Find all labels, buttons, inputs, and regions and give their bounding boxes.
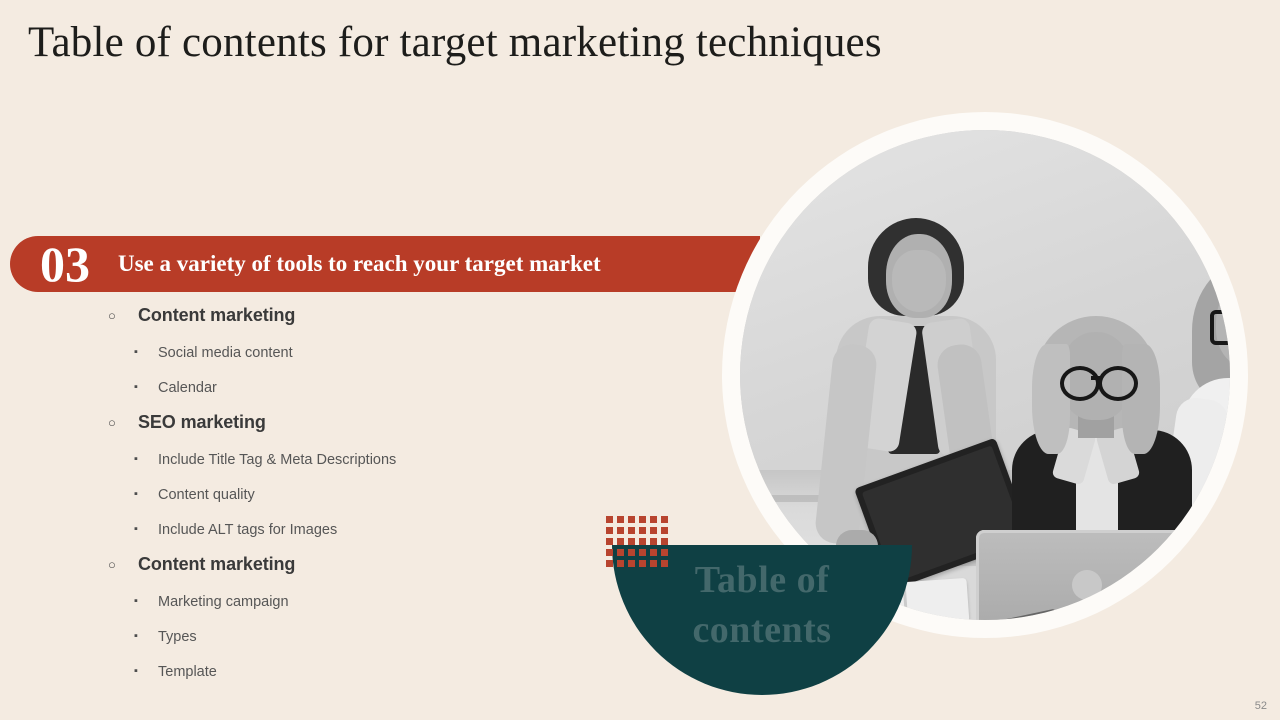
list-item-sub[interactable]: ▪ Include Title Tag & Meta Descriptions: [108, 444, 628, 475]
dot: [606, 560, 613, 567]
toc-badge-label: Table of contents: [612, 555, 912, 655]
square-filled-bullet-icon: ▪: [134, 382, 158, 393]
photo-laptop-logo: [1072, 570, 1102, 600]
list-item-label: Include ALT tags for Images: [158, 522, 337, 538]
square-filled-bullet-icon: ▪: [134, 631, 158, 642]
photo-coffee-cup: [1226, 582, 1230, 620]
list-item-main[interactable]: ○ Content marketing: [108, 549, 628, 580]
contents-list: ○ Content marketing ▪ Social media conte…: [108, 300, 628, 691]
circle-hollow-bullet-icon: ○: [108, 416, 138, 429]
dot: [661, 549, 668, 556]
dot: [639, 516, 646, 523]
page-number: 52: [1255, 700, 1267, 712]
square-filled-bullet-icon: ▪: [134, 596, 158, 607]
dot: [639, 549, 646, 556]
photo-person-left-face: [892, 250, 946, 312]
photo-person-center-hair-left: [1032, 344, 1070, 454]
dot: [617, 538, 624, 545]
list-item-label: Content quality: [158, 487, 255, 503]
dot: [639, 538, 646, 545]
photo-person-right-glasses-left: [1210, 310, 1230, 345]
circle-hollow-bullet-icon: ○: [108, 309, 138, 322]
list-item-main[interactable]: ○ Content marketing: [108, 300, 628, 331]
dot: [650, 516, 657, 523]
list-item-sub[interactable]: ▪ Include ALT tags for Images: [108, 514, 628, 545]
dot: [650, 538, 657, 545]
list-item-sub[interactable]: ▪ Calendar: [108, 372, 628, 403]
list-item-main[interactable]: ○ SEO marketing: [108, 407, 628, 438]
list-item-label: Marketing campaign: [158, 594, 289, 610]
dot: [661, 527, 668, 534]
dot: [650, 560, 657, 567]
list-item-label: Content marketing: [138, 305, 295, 326]
square-filled-bullet-icon: ▪: [134, 489, 158, 500]
list-item-sub[interactable]: ▪ Social media content: [108, 337, 628, 368]
list-item-label: Social media content: [158, 345, 293, 361]
photo-person-center-hair-right: [1122, 344, 1160, 454]
dot: [661, 538, 668, 545]
dot: [650, 549, 657, 556]
list-item-label: Calendar: [158, 380, 217, 396]
dot: [606, 516, 613, 523]
dot-grid-decoration: [606, 516, 670, 569]
dot: [639, 560, 646, 567]
section-heading: Use a variety of tools to reach your tar…: [118, 236, 601, 292]
dot: [606, 538, 613, 545]
toc-badge-line2: contents: [612, 605, 912, 655]
square-filled-bullet-icon: ▪: [134, 454, 158, 465]
dot: [628, 527, 635, 534]
dot: [661, 560, 668, 567]
dot: [617, 527, 624, 534]
dot: [617, 549, 624, 556]
dot: [617, 516, 624, 523]
dot: [661, 516, 668, 523]
dot: [628, 549, 635, 556]
dot: [639, 527, 646, 534]
circle-hollow-bullet-icon: ○: [108, 558, 138, 571]
square-filled-bullet-icon: ▪: [134, 524, 158, 535]
square-filled-bullet-icon: ▪: [134, 347, 158, 358]
dot: [606, 527, 613, 534]
page-title: Table of contents for target marketing t…: [28, 16, 882, 70]
photo-person-center-glasses-right: [1098, 366, 1138, 401]
list-item-sub[interactable]: ▪ Content quality: [108, 479, 628, 510]
list-item-sub[interactable]: ▪ Marketing campaign: [108, 586, 628, 617]
list-item-label: Include Title Tag & Meta Descriptions: [158, 452, 396, 468]
dot: [628, 538, 635, 545]
section-number: 03: [40, 230, 90, 298]
slide-canvas: Table of contents for target marketing t…: [0, 0, 1280, 720]
photo-person-center-glasses-bridge: [1091, 376, 1100, 380]
list-item-label: Content marketing: [138, 554, 295, 575]
dot: [650, 527, 657, 534]
photo-person-center-glasses-left: [1060, 366, 1100, 401]
square-filled-bullet-icon: ▪: [134, 666, 158, 677]
dot: [617, 560, 624, 567]
list-item-sub[interactable]: ▪ Types: [108, 621, 628, 652]
dot: [606, 549, 613, 556]
list-item-label: SEO marketing: [138, 412, 266, 433]
list-item-label: Types: [158, 629, 197, 645]
section-banner: 03 Use a variety of tools to reach your …: [10, 236, 760, 292]
list-item-label: Template: [158, 664, 217, 680]
dot: [628, 560, 635, 567]
list-item-sub[interactable]: ▪ Template: [108, 656, 628, 687]
dot: [628, 516, 635, 523]
